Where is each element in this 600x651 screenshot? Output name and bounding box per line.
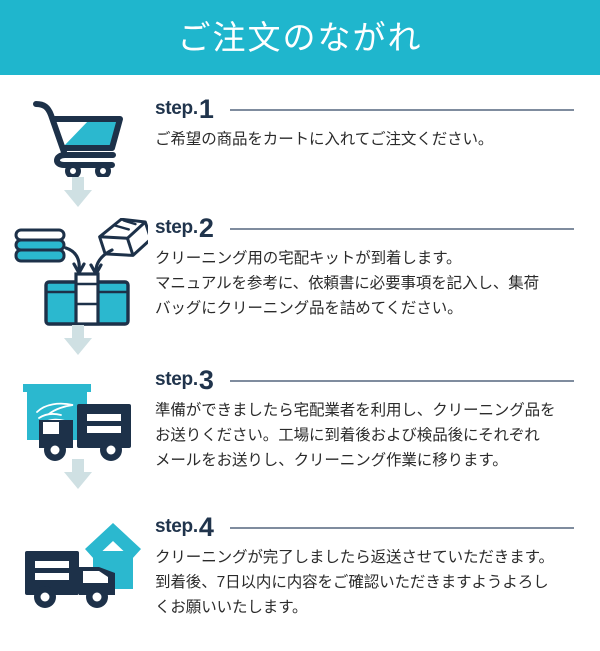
- page-header-banner: ご注文のながれ: [0, 0, 600, 75]
- step-3-line-3: メールをお送りし、クリーニング作業に移ります。: [155, 448, 574, 473]
- delivery-truck-home-icon: [15, 517, 141, 617]
- step-3-rule: [230, 380, 574, 382]
- connector-2-3: [0, 323, 155, 357]
- step-4-text-cell: step. 4 クリーニングが完了しましたら返送させていただきます。 到着後、7…: [155, 511, 600, 620]
- step-2-line-2: マニュアルを参考に、依頼書に必要事項を記入し、集荷: [155, 271, 574, 296]
- step-3-heading: step. 3: [155, 364, 574, 394]
- step-4-description: クリーニングが完了しましたら返送させていただきます。 到着後、7日以内に内容をご…: [155, 545, 574, 620]
- step-3-description: 準備ができましたら宅配業者を利用し、クリーニング品を お送りください。工場に到着…: [155, 398, 574, 473]
- step-4-label: step.: [155, 517, 198, 536]
- step-4-rule: [230, 527, 574, 529]
- step-2-heading: step. 2: [155, 212, 574, 242]
- step-4-line-1: クリーニングが完了しましたら返送させていただきます。: [155, 545, 574, 570]
- step-4-line-3: くお願いいたします。: [155, 595, 574, 620]
- step-2-line-3: バッグにクリーニング品を詰めてください。: [155, 296, 574, 321]
- page-title: ご注文のながれ: [178, 21, 423, 54]
- delivery-kit-bag-icon: [8, 218, 148, 330]
- step-3-text-cell: step. 3 準備ができましたら宅配業者を利用し、クリーニング品を お送りくだ…: [155, 364, 600, 473]
- step-3-icon-cell: [0, 364, 155, 470]
- step-1-heading: step. 1: [155, 93, 574, 123]
- step-1-text-cell: step. 1 ご希望の商品をカートに入れてご注文ください。: [155, 93, 600, 152]
- step-1-icon-cell: [0, 93, 155, 177]
- step-4-icon-cell: [0, 511, 155, 617]
- step-1-rule: [230, 109, 574, 111]
- step-3-number: 3: [199, 367, 214, 394]
- step-1-number: 1: [199, 96, 214, 123]
- step-2-number: 2: [199, 215, 214, 242]
- step-1-description: ご希望の商品をカートに入れてご注文ください。: [155, 127, 574, 152]
- step-4-number: 4: [199, 514, 214, 541]
- step-2-text-cell: step. 2 クリーニング用の宅配キットが到着します。 マニュアルを参考に、依…: [155, 212, 600, 321]
- pickup-bag-icon: [46, 274, 128, 324]
- step-1-label: step.: [155, 99, 198, 118]
- delivery-truck-factory-icon: [15, 370, 141, 470]
- step-1-line-1: ご希望の商品をカートに入れてご注文ください。: [155, 127, 574, 152]
- step-2-rule: [230, 228, 574, 230]
- step-2-icon-cell: [0, 212, 155, 330]
- step-2-label: step.: [155, 218, 198, 237]
- folded-linens-icon: [16, 230, 64, 261]
- arrow-down-icon: [61, 323, 95, 357]
- step-2-line-1: クリーニング用の宅配キットが到着します。: [155, 246, 574, 271]
- step-row-4: step. 4 クリーニングが完了しましたら返送させていただきます。 到着後、7…: [0, 499, 600, 651]
- step-3-label: step.: [155, 370, 198, 389]
- arrow-down-icon: [61, 457, 95, 491]
- connector-1-2: [0, 175, 155, 209]
- connector-3-4: [0, 457, 155, 491]
- step-2-description: クリーニング用の宅配キットが到着します。 マニュアルを参考に、依頼書に必要事項を…: [155, 246, 574, 321]
- step-3-line-1: 準備ができましたら宅配業者を利用し、クリーニング品を: [155, 398, 574, 423]
- shopping-cart-icon: [28, 99, 128, 177]
- arrow-down-icon: [61, 175, 95, 209]
- step-3-line-2: お送りください。工場に到着後および検品後にそれぞれ: [155, 423, 574, 448]
- order-flow-steps: step. 1 ご希望の商品をカートに入れてご注文ください。: [0, 75, 600, 651]
- step-4-line-2: 到着後、7日以内に内容をご確認いただきますようよろし: [155, 570, 574, 595]
- step-4-heading: step. 4: [155, 511, 574, 541]
